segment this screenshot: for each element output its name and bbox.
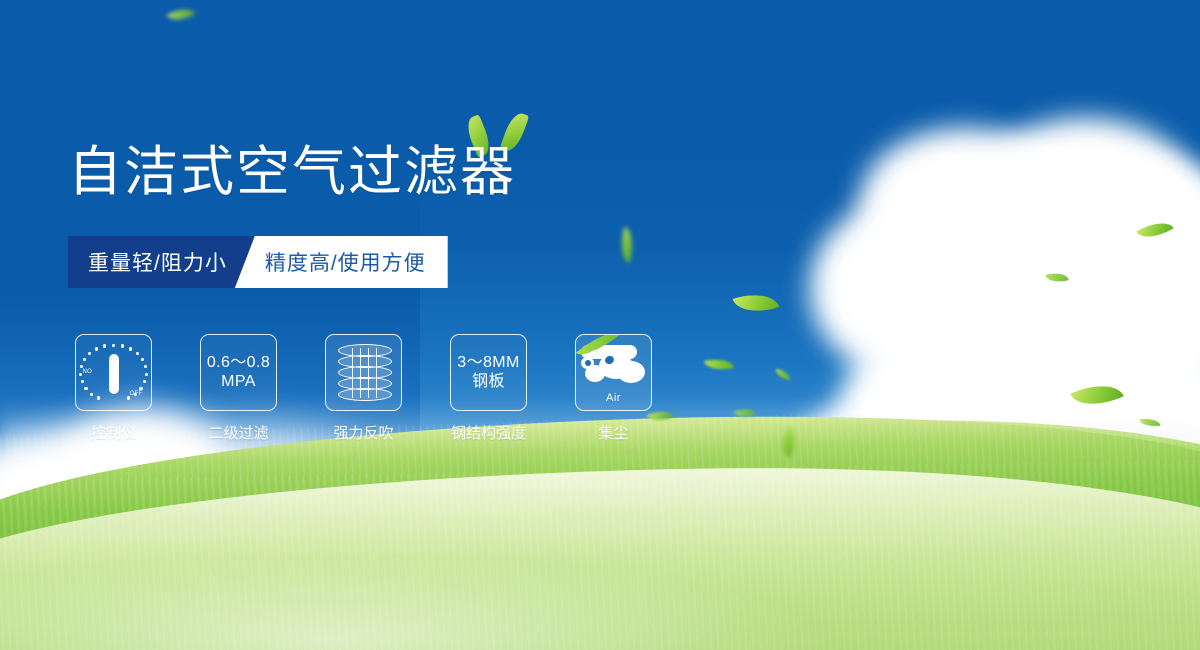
pressure-line1: 0.6～0.8 — [207, 354, 270, 373]
air-caption: Air — [581, 392, 647, 404]
pressure-text-icon: 0.6～0.8 MPA — [207, 354, 270, 392]
dial-label-off: OFF — [130, 391, 143, 397]
feature-box-pressure: 0.6～0.8 MPA — [200, 334, 277, 411]
badge-lightweight: 重量轻/阻力小 — [68, 236, 253, 288]
feature-label-dust: 集尘 — [598, 422, 628, 443]
hero-banner: 自洁式空气过滤器 重量轻/阻力小 精度高/使用方便 — [0, 0, 1200, 650]
dial-pointer — [109, 354, 119, 394]
badge-lightweight-label: 重量轻/阻力小 — [88, 247, 227, 277]
feature-secondary-filtration[interactable]: 0.6～0.8 MPA 二级过滤 — [201, 334, 276, 443]
page-title: 自洁式空气过滤器 — [68, 145, 516, 199]
feature-label-filtration: 二级过滤 — [208, 422, 268, 443]
feature-box-backblow — [325, 334, 402, 411]
dial-label-no: NO — [83, 369, 93, 375]
feature-label-steel: 钢结构强度 — [451, 422, 526, 443]
feature-box-steel: 3～8MM 钢板 — [450, 334, 527, 411]
steel-line1: 3～8MM — [457, 354, 519, 373]
badge-precision: 精度高/使用方便 — [235, 236, 448, 288]
feature-dust-collection[interactable]: Air 集尘 — [576, 334, 651, 443]
filter-cartridge-icon — [338, 344, 390, 402]
pressure-line2: MPA — [207, 373, 270, 392]
feature-box-control: NO OFF — [75, 334, 152, 411]
air-cloud-icon: Air — [581, 345, 647, 401]
tagline-badges: 重量轻/阻力小 精度高/使用方便 — [68, 236, 448, 288]
grass-field — [0, 410, 1200, 650]
feature-box-dust: Air — [575, 334, 652, 411]
control-dial-icon: NO OFF — [83, 342, 145, 404]
feature-strong-backblow[interactable]: 强力反吹 — [326, 334, 401, 443]
feature-steel-strength[interactable]: 3～8MM 钢板 钢结构强度 — [451, 334, 526, 443]
steel-plate-text-icon: 3～8MM 钢板 — [457, 354, 519, 392]
feature-control-instrument[interactable]: NO OFF 控制仪 — [76, 334, 151, 443]
feature-label-control: 控制仪 — [91, 422, 136, 443]
feature-label-backblow: 强力反吹 — [333, 422, 393, 443]
feature-icon-row: NO OFF 控制仪 0.6～0.8 MPA 二级过滤 — [76, 334, 651, 443]
steel-line2: 钢板 — [457, 373, 519, 392]
grass-highlight — [0, 500, 1200, 650]
badge-precision-label: 精度高/使用方便 — [265, 247, 426, 277]
